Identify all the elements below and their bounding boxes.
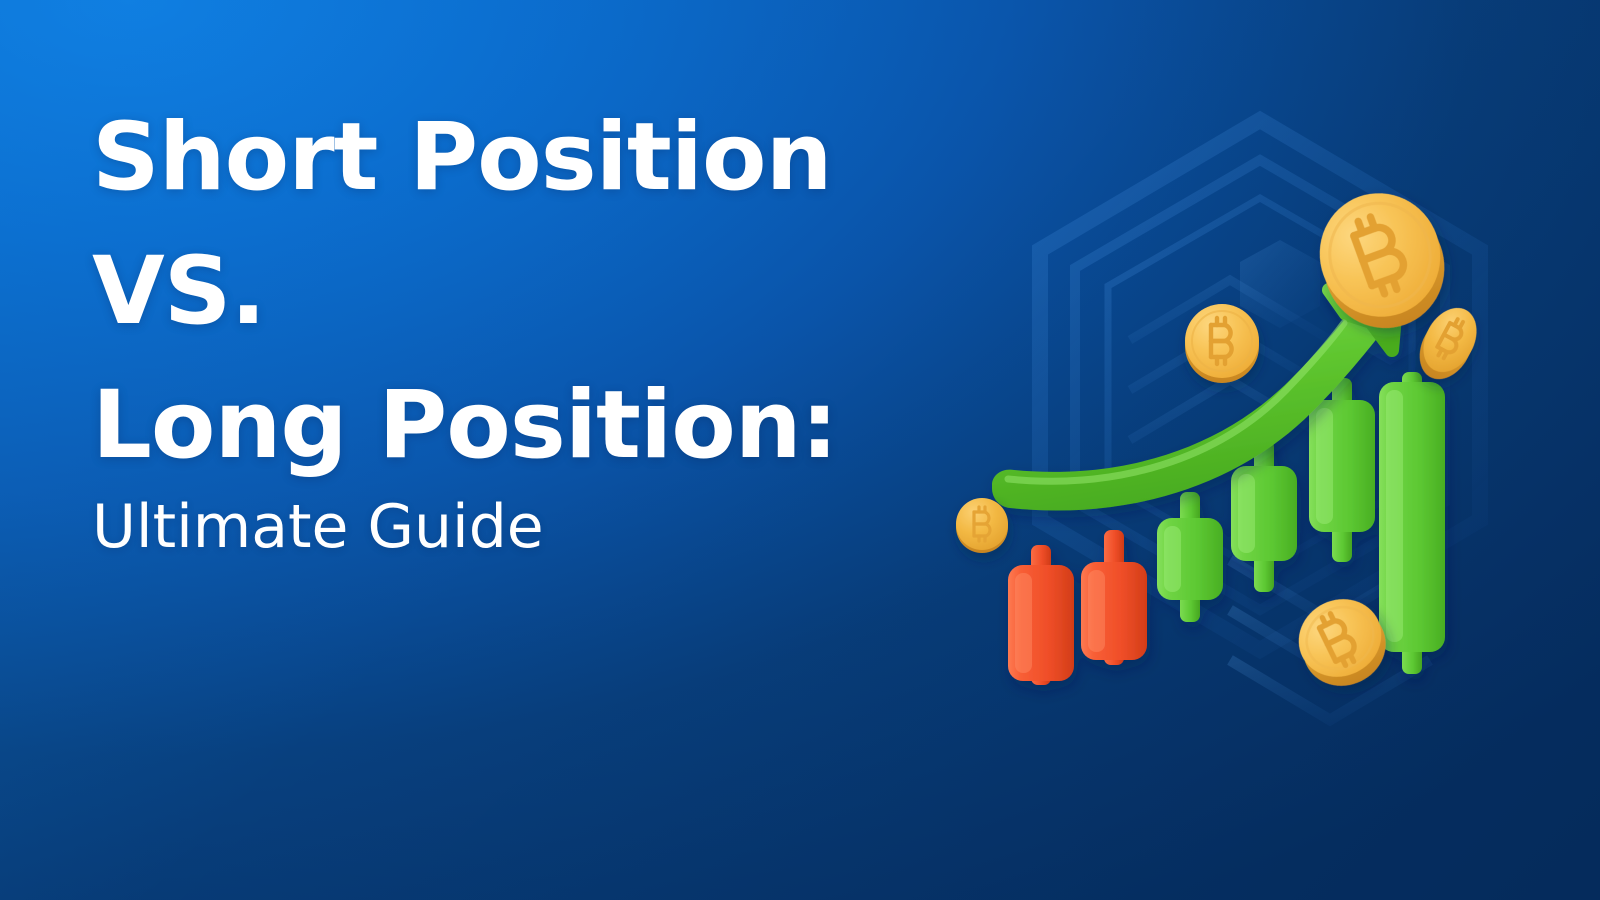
- candle-2-bearish: [1081, 530, 1147, 665]
- headline-line-3: Long Position:: [92, 378, 932, 474]
- candle-3-bullish: [1157, 492, 1223, 622]
- subheadline: Ultimate Guide: [92, 496, 932, 559]
- bitcoin-coin-mid-center: [1185, 304, 1259, 383]
- bitcoin-chart-illustration: [930, 150, 1530, 730]
- candle-6-bullish: [1379, 372, 1445, 674]
- headline-block: Short Position VS. Long Position: Ultima…: [92, 110, 932, 559]
- headline-line-1: Short Position: [92, 110, 932, 206]
- bitcoin-coin-small-left: [956, 498, 1008, 553]
- headline-line-2: VS.: [92, 244, 932, 340]
- title-card: Short Position VS. Long Position: Ultima…: [0, 0, 1600, 900]
- candle-1-bearish: [1008, 545, 1074, 685]
- candle-5-bullish: [1309, 378, 1375, 562]
